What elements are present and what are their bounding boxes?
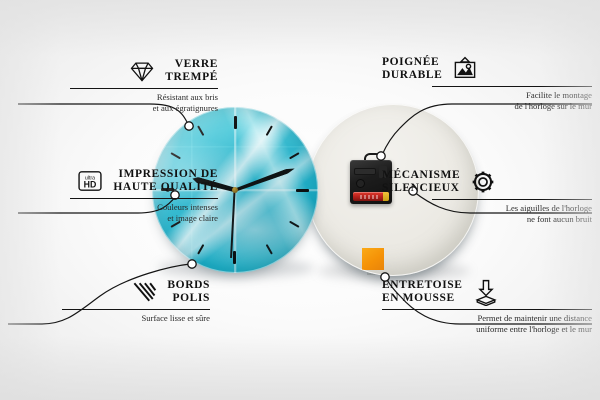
callout-header: ultra HD IMPRESSION DE HAUTE QUALITÉ (8, 167, 218, 195)
gear-icon (469, 168, 497, 196)
callout-subtitle: Permet de maintenir une distance uniform… (382, 313, 592, 335)
ultra-hd-badge-icon: ultra HD (76, 167, 104, 195)
callout-title: IMPRESSION DE HAUTE QUALITÉ (113, 168, 218, 195)
callout-subtitle: Facilite le montage de l'horloge sur le … (382, 90, 592, 112)
callout-title: BORDS POLIS (167, 279, 210, 306)
hands-center-cap (232, 187, 238, 193)
callout-header: POIGNÉE DURABLE (382, 55, 592, 83)
callout-title: VERRE TREMPÉ (165, 58, 218, 85)
battery-label (360, 195, 380, 199)
diamond-icon (128, 57, 156, 85)
foam-spacer-pad (362, 248, 384, 270)
callout-subtitle: Résistant aux bris et aux égratignures (8, 92, 218, 114)
callout-impression-haute-qualite: ultra HD IMPRESSION DE HAUTE QUALITÉ Cou… (8, 167, 218, 224)
foam-spacer (362, 248, 384, 270)
callout-poignee-durable: POIGNÉE DURABLE Facilite le montage de l… (382, 55, 592, 112)
callout-rule (62, 309, 210, 310)
callout-title: ENTRETOISE EN MOUSSE (382, 279, 463, 306)
callout-rule (432, 199, 592, 200)
callout-bords-polis: BORDS POLIS Surface lisse et sûre (0, 278, 210, 324)
callout-rule (432, 86, 592, 87)
minute-hand (234, 166, 295, 192)
callout-subtitle: Couleurs intenses et image claire (8, 202, 218, 224)
hanging-picture-icon (451, 55, 479, 83)
callout-rule (70, 198, 218, 199)
movement-detail-dial (356, 179, 365, 188)
second-hand (231, 190, 236, 258)
callout-title: POIGNÉE DURABLE (382, 56, 442, 83)
callout-rule (70, 88, 218, 89)
callout-subtitle: Les aiguilles de l'horloge ne font aucun… (382, 203, 592, 225)
infographic-canvas: VERRE TREMPÉ Résistant aux bris et aux é… (0, 0, 600, 400)
callout-entretoise-en-mousse: ENTRETOISE EN MOUSSE Permet de maintenir… (382, 278, 592, 335)
callout-verre-trempe: VERRE TREMPÉ Résistant aux bris et aux é… (8, 57, 218, 114)
callout-subtitle: Surface lisse et sûre (0, 313, 210, 324)
callout-rule (382, 309, 592, 310)
polished-edges-icon (130, 278, 158, 306)
callout-mecanisme-silencieux: MÉCANISME SILENCIEUX Les aiguilles de l'… (382, 168, 592, 225)
svg-text:HD: HD (84, 180, 97, 190)
movement-detail-panel (354, 168, 376, 175)
callout-header: BORDS POLIS (0, 278, 210, 306)
callout-header: VERRE TREMPÉ (8, 57, 218, 85)
callout-title: MÉCANISME SILENCIEUX (382, 169, 460, 196)
callout-header: ENTRETOISE EN MOUSSE (382, 278, 592, 306)
callout-header: MÉCANISME SILENCIEUX (382, 168, 592, 196)
down-arrow-stack-icon (472, 278, 500, 306)
